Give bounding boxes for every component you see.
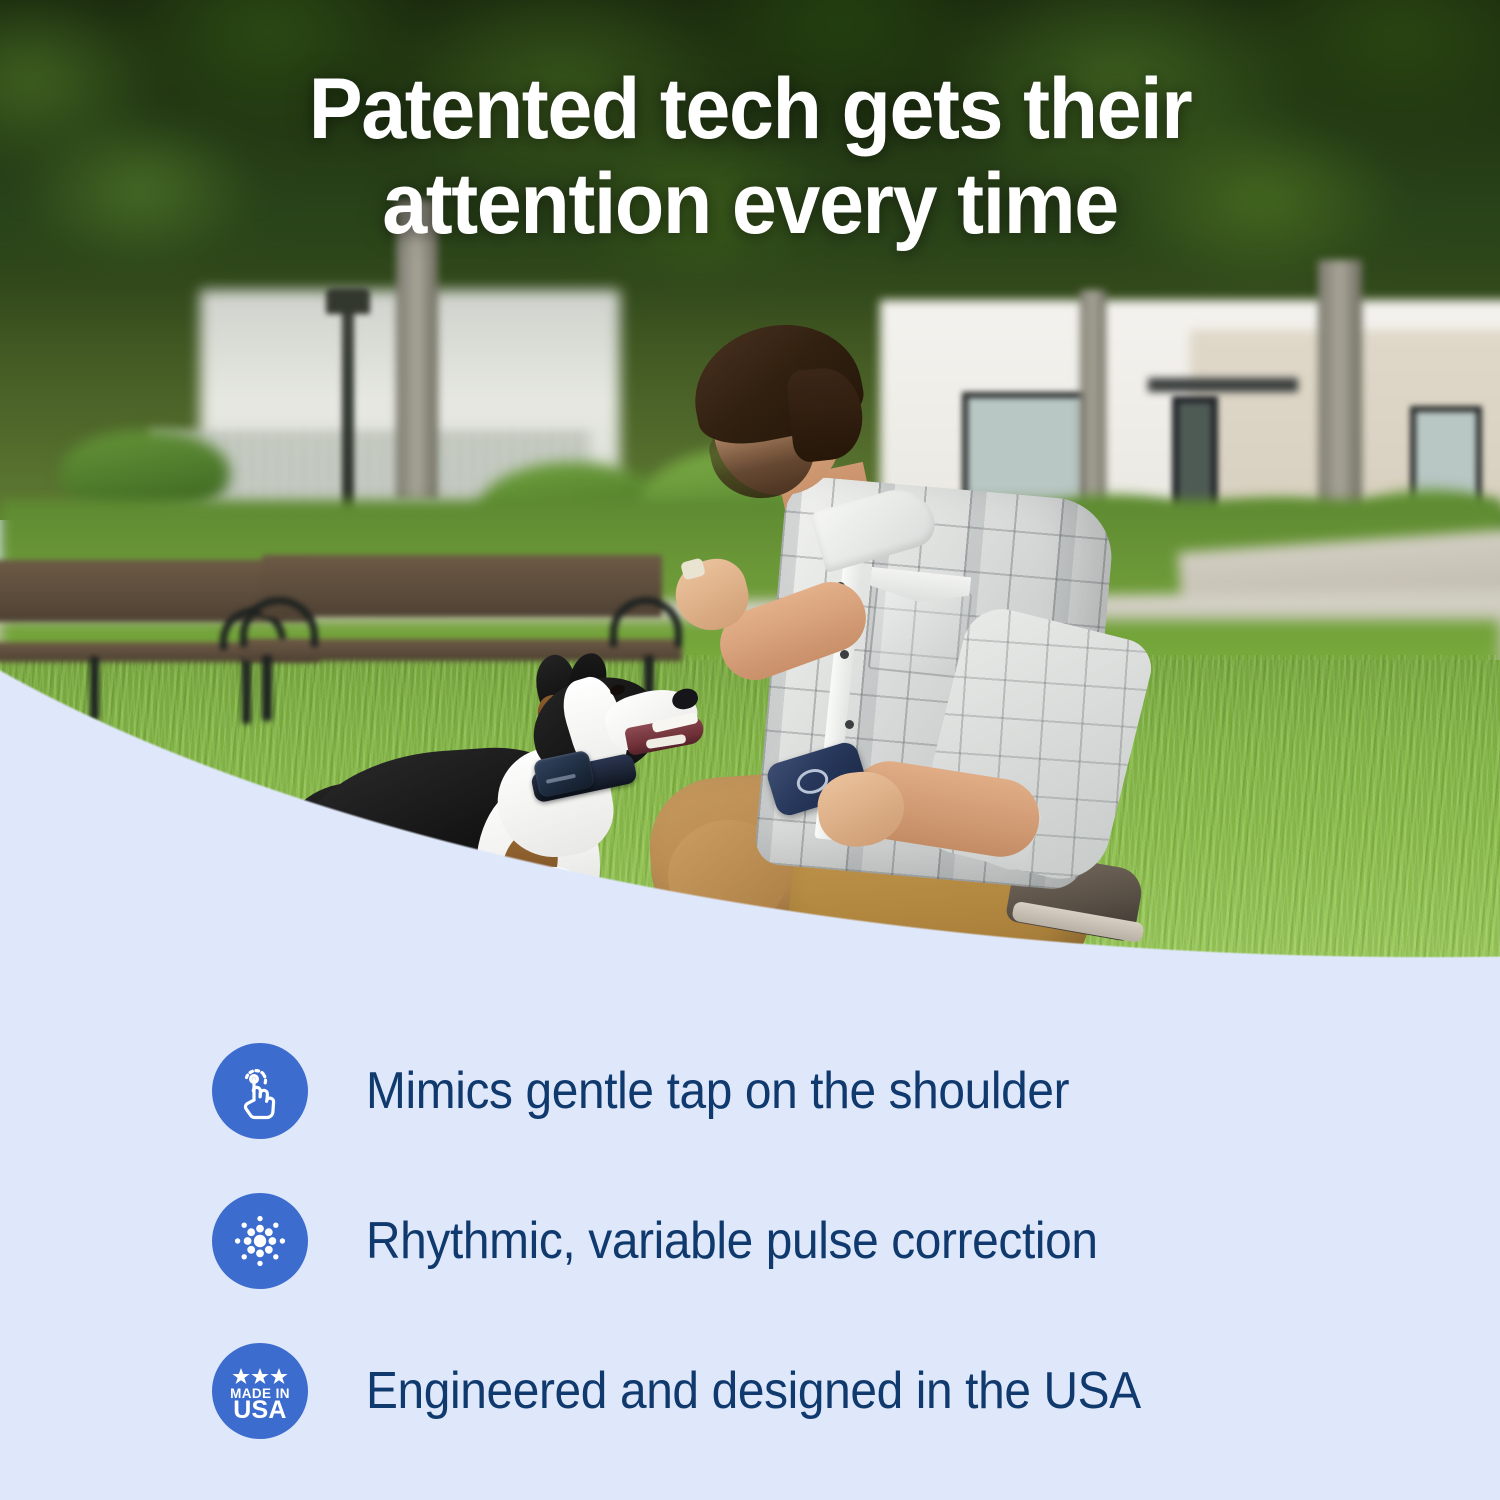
feature-item-pulse: Rhythmic, variable pulse correction (0, 1166, 1500, 1316)
dog (280, 655, 700, 955)
feature-item-usa: MADE IN USA Engineered and designed in t… (0, 1316, 1500, 1466)
lamp-head (326, 288, 370, 314)
made-in-usa-badge-icon: MADE IN USA (212, 1343, 308, 1439)
man-trainer (640, 320, 1160, 970)
feature-label-usa: Engineered and designed in the USA (366, 1361, 1141, 1421)
headline: Patented tech gets their attention every… (45, 62, 1455, 251)
shirt-button-2 (840, 650, 849, 659)
pulse-dots-icon (212, 1193, 308, 1289)
building-awning (1148, 378, 1298, 392)
feature-label-tap: Mimics gentle tap on the shoulder (366, 1061, 1069, 1121)
headline-line-2: attention every time (158, 157, 1342, 252)
shirt-button-3 (845, 720, 854, 729)
feature-list: Mimics gentle tap on the shoulder (0, 960, 1500, 1500)
product-feature-image: Patented tech gets their attention every… (0, 0, 1500, 1500)
dog-front-leg (526, 866, 584, 955)
badge-usa-text: USA (233, 1396, 286, 1422)
feature-item-tap: Mimics gentle tap on the shoulder (0, 1016, 1500, 1166)
feature-label-pulse: Rhythmic, variable pulse correction (366, 1211, 1098, 1271)
hand-tap-icon (212, 1043, 308, 1139)
headline-line-1: Patented tech gets their (158, 62, 1342, 157)
